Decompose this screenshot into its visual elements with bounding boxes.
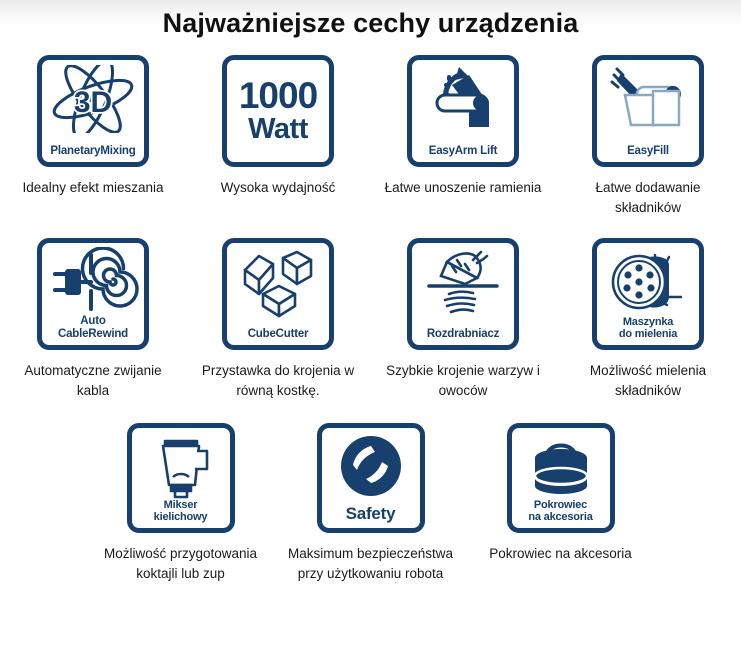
badge-label: Rozdrabniacz bbox=[412, 328, 514, 341]
badge-safety[interactable]: Safety bbox=[317, 423, 425, 533]
badge-label: EasyArm Lift bbox=[412, 145, 514, 158]
badge-blender-jug[interactable]: Mikser kielichowy bbox=[127, 423, 235, 533]
badge-label-line1: Mikser bbox=[134, 499, 228, 511]
badge-label: PlanetaryMixing bbox=[42, 145, 144, 158]
feature-caption: Maksimum bezpieczeństwa przy użytkowaniu… bbox=[283, 544, 458, 584]
shredder-carrot-icon bbox=[412, 247, 514, 317]
feature-item-safety[interactable]: Safety Maksimum bezpieczeństwa przy użyt… bbox=[276, 423, 466, 584]
meat-grinder-icon bbox=[597, 247, 699, 317]
feature-item-easyfill[interactable]: EasyFill Łatwe dodawanie składników bbox=[556, 55, 741, 218]
badge-label: Pokrowiec na akcesoria bbox=[512, 499, 610, 523]
watt-unit: Watt bbox=[248, 114, 308, 145]
auto-cable-rewind-icon bbox=[42, 247, 144, 317]
feature-item-auto-cable-rewind[interactable]: Auto CableRewind Automatyczne zwijanie k… bbox=[1, 238, 186, 401]
badge-auto-cable-rewind[interactable]: Auto CableRewind bbox=[37, 238, 149, 350]
easyfill-icon bbox=[597, 64, 699, 134]
feature-highlights-page: Najważniejsze cechy urządzenia 3D bbox=[0, 0, 741, 658]
badge-label-line2: na akcesoria bbox=[514, 511, 608, 523]
feature-caption: Wysoka wydajność bbox=[221, 178, 336, 198]
feature-caption: Idealny efekt mieszania bbox=[22, 178, 163, 198]
badge-cube-cutter[interactable]: CubeCutter bbox=[222, 238, 334, 350]
badge-label: Safety bbox=[322, 504, 420, 523]
feature-caption: Pokrowiec na akcesoria bbox=[489, 544, 632, 564]
feature-item-cube-cutter[interactable]: CubeCutter Przystawka do krojenia w równ… bbox=[186, 238, 371, 401]
feature-row-1: 3D PlanetaryMixing Idealny efekt mieszan… bbox=[0, 55, 741, 218]
feature-caption: Łatwe unoszenie ramienia bbox=[385, 178, 542, 198]
badge-easyarm-lift[interactable]: EasyArm Lift bbox=[407, 55, 519, 167]
feature-item-shredder[interactable]: Rozdrabniacz Szybkie krojenie warzyw i o… bbox=[371, 238, 556, 401]
feature-item-accessory-cover[interactable]: Pokrowiec na akcesoria Pokrowiec na akce… bbox=[466, 423, 656, 564]
badge-meat-grinder[interactable]: Maszynka do mielenia bbox=[592, 238, 704, 350]
feature-caption: Możliwość mielenia składników bbox=[568, 361, 728, 401]
feature-item-planetary-mixing[interactable]: 3D PlanetaryMixing Idealny efekt mieszan… bbox=[1, 55, 186, 198]
planetary-mixing-icon: 3D bbox=[42, 64, 144, 134]
badge-label-line1: Maszynka bbox=[599, 316, 697, 328]
page-title: Najważniejsze cechy urządzenia bbox=[0, 0, 741, 40]
badge-accessory-cover[interactable]: Pokrowiec na akcesoria bbox=[507, 423, 615, 533]
svg-text:3D: 3D bbox=[74, 86, 112, 119]
easyarm-lift-icon bbox=[412, 64, 514, 134]
badge-label: Auto CableRewind bbox=[42, 315, 144, 340]
badge-label-line1: Pokrowiec bbox=[514, 499, 608, 511]
safety-shield-icon bbox=[322, 432, 420, 502]
accessory-cover-icon bbox=[512, 432, 610, 502]
feature-caption: Przystawka do krojenia w równą kostkę. bbox=[198, 361, 358, 401]
badge-label: CubeCutter bbox=[227, 328, 329, 341]
badge-power[interactable]: 1000 Watt bbox=[222, 55, 334, 167]
badge-label: EasyFill bbox=[597, 145, 699, 158]
feature-item-power[interactable]: 1000 Watt Wysoka wydajność bbox=[186, 55, 371, 198]
feature-caption: Szybkie krojenie warzyw i owoców bbox=[383, 361, 543, 401]
feature-caption: Możliwość przygotowania koktajli lub zup bbox=[93, 544, 268, 584]
feature-row-3: Mikser kielichowy Możliwość przygotowani… bbox=[0, 423, 741, 584]
power-wattage-icon: 1000 Watt bbox=[227, 60, 329, 162]
badge-shredder[interactable]: Rozdrabniacz bbox=[407, 238, 519, 350]
badge-label-line2: do mielenia bbox=[599, 328, 697, 340]
feature-item-meat-grinder[interactable]: Maszynka do mielenia Możliwość mielenia … bbox=[556, 238, 741, 401]
feature-caption: Automatyczne zwijanie kabla bbox=[13, 361, 173, 401]
feature-caption: Łatwe dodawanie składników bbox=[568, 178, 728, 218]
badge-easyfill[interactable]: EasyFill bbox=[592, 55, 704, 167]
feature-row-2: Auto CableRewind Automatyczne zwijanie k… bbox=[0, 238, 741, 401]
badge-label: Mikser kielichowy bbox=[132, 499, 230, 523]
feature-item-blender-jug[interactable]: Mikser kielichowy Możliwość przygotowani… bbox=[86, 423, 276, 584]
badge-label: Maszynka do mielenia bbox=[597, 316, 699, 340]
badge-label-line2: kielichowy bbox=[134, 511, 228, 523]
badge-planetary-mixing[interactable]: 3D PlanetaryMixing bbox=[37, 55, 149, 167]
watt-number: 1000 bbox=[239, 77, 317, 114]
blender-jug-icon bbox=[132, 432, 230, 502]
feature-item-easyarm-lift[interactable]: EasyArm Lift Łatwe unoszenie ramienia bbox=[371, 55, 556, 198]
cube-cutter-icon bbox=[227, 247, 329, 317]
